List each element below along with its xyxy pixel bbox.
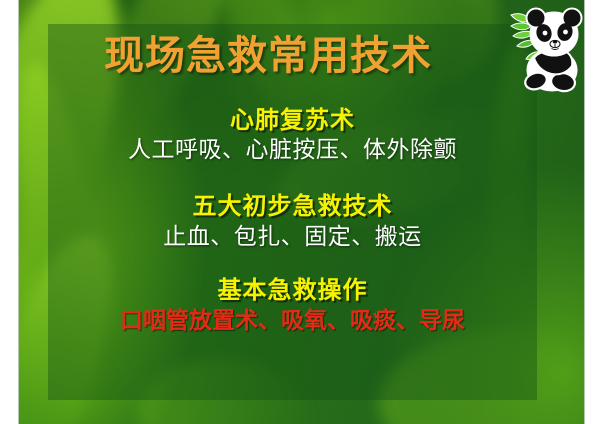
topic-block-cpr: 心肺复苏术 人工呼吸、心脏按压、体外除颤 [48,106,537,165]
page-margin-right [585,0,600,424]
page-edge-line-right [584,0,585,424]
slide-content: 现场急救常用技术 心肺复苏术 人工呼吸、心脏按压、体外除颤 五大初步急救技术 止… [48,24,537,400]
topic-block-basic-operations: 基本急救操作 口咽管放置术、吸氧、吸痰、导尿 [48,276,537,336]
topic-detail-five-techniques: 止血、包扎、固定、搬运 [48,224,537,252]
slide-title: 现场急救常用技术 [48,35,488,78]
slide-canvas: 现场急救常用技术 心肺复苏术 人工呼吸、心脏按压、体外除颤 五大初步急救技术 止… [0,0,600,424]
panda-mascot-icon [500,2,592,98]
topic-block-five-techniques: 五大初步急救技术 止血、包扎、固定、搬运 [48,192,537,252]
topic-heading-basic-operations: 基本急救操作 [48,276,537,304]
page-margin-left [0,0,18,424]
page-edge-line-left [18,0,19,424]
topic-detail-cpr: 人工呼吸、心脏按压、体外除颤 [48,137,537,165]
topic-heading-five-techniques: 五大初步急救技术 [48,192,537,220]
topic-detail-basic-operations: 口咽管放置术、吸氧、吸痰、导尿 [48,308,537,336]
topic-heading-cpr: 心肺复苏术 [48,106,537,134]
